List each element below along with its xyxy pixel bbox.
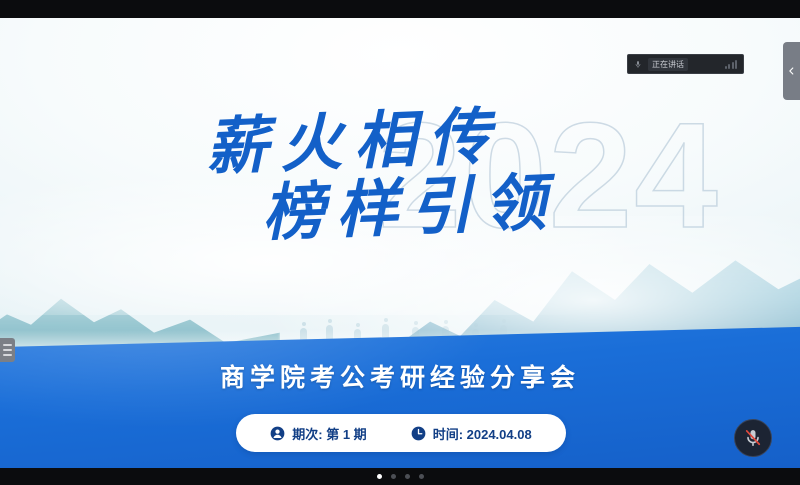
meeting-screen-share-view: 您正在共享屏幕 2024 薪火相传 榜样引领 商学院考公考研经验分享会 — [0, 0, 800, 485]
chevron-left-icon — [787, 64, 796, 78]
active-speaker-name: 正在讲话 — [648, 58, 688, 71]
grip-handle-icon — [3, 344, 12, 346]
right-panel-toggle[interactable] — [783, 42, 800, 100]
signal-strength-icon — [725, 60, 738, 69]
slide-info-pill: 期次: 第 1 期 时间: 2024.04.08 — [236, 414, 566, 452]
grip-handle-icon — [3, 349, 12, 351]
top-chrome-bar — [0, 0, 800, 18]
microphone-toggle-button[interactable] — [734, 419, 772, 457]
pagination-dot[interactable] — [391, 474, 396, 479]
bottom-chrome-bar — [0, 468, 800, 485]
info-item-time: 时间: 2024.04.08 — [411, 424, 532, 443]
active-speaker-tile[interactable]: 正在讲话 — [627, 54, 744, 74]
info-label-time: 时间: 2024.04.08 — [433, 424, 532, 443]
info-label-session: 期次: 第 1 期 — [292, 424, 366, 443]
clock-icon — [411, 426, 426, 441]
slide-calligraphy-title: 薪火相传 榜样引领 — [0, 110, 800, 242]
pagination-dot[interactable] — [405, 474, 410, 479]
grip-handle-icon — [3, 354, 12, 356]
slide-stage: 2024 薪火相传 榜样引领 商学院考公考研经验分享会 期次: 第 1 期 — [0, 18, 800, 468]
left-panel-toggle[interactable] — [0, 338, 15, 362]
info-item-session: 期次: 第 1 期 — [270, 424, 366, 443]
pagination-dot[interactable] — [419, 474, 424, 479]
microphone-icon — [634, 59, 642, 70]
microphone-muted-icon — [743, 428, 763, 448]
pagination-dot[interactable] — [377, 474, 382, 479]
slide-banner-title: 商学院考公考研经验分享会 — [0, 358, 800, 394]
person-icon — [270, 426, 285, 441]
